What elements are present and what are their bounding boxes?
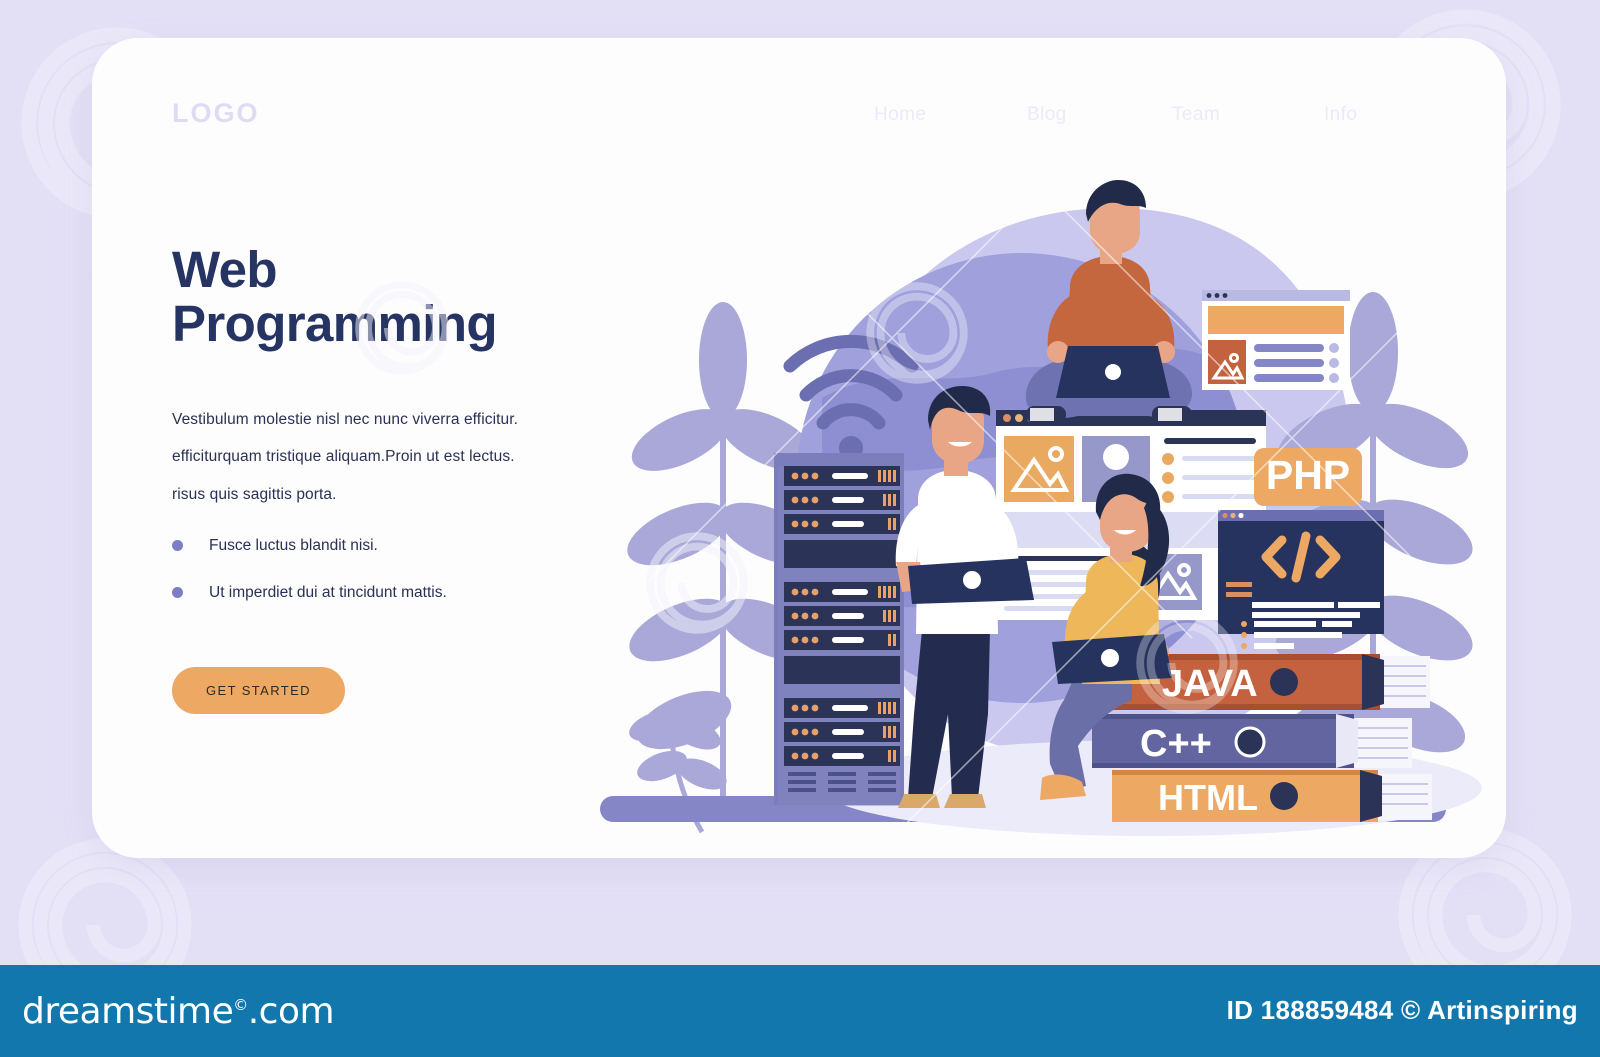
svg-text:PHP: PHP xyxy=(1266,452,1350,498)
card-banner xyxy=(1208,306,1344,334)
sneaker-right xyxy=(1152,406,1192,423)
nav-item-team[interactable]: Team xyxy=(1172,104,1220,126)
php-badge: PHP xyxy=(1254,448,1362,506)
server-vents xyxy=(788,772,896,792)
nav-item-info[interactable]: Info xyxy=(1324,104,1357,126)
image-credit: ID 188859484 © Artinspiring xyxy=(1227,995,1578,1026)
sneaker-left xyxy=(1026,406,1066,423)
dreamstime-logo: dreamstime©.com xyxy=(22,991,334,1032)
site-logo[interactable]: LOGO xyxy=(172,98,260,129)
book-cplusplus: C++ xyxy=(1092,714,1412,768)
hero-bullet-list: Fusce luctus blandit nisi. Ut imperdiet … xyxy=(172,537,602,602)
svg-text:HTML: HTML xyxy=(1158,777,1258,818)
svg-text:C++: C++ xyxy=(1140,723,1212,765)
server-group-3 xyxy=(784,698,900,766)
bullet-label: Fusce luctus blandit nisi. xyxy=(209,537,378,555)
shoe-right xyxy=(944,794,986,808)
book-html: HTML xyxy=(1112,770,1432,822)
hero-illustration: PHP xyxy=(592,148,1492,838)
svg-text:JAVA: JAVA xyxy=(1162,663,1258,705)
page-title: Web Programming xyxy=(172,243,602,350)
server-rack xyxy=(774,453,904,806)
bullet-label: Ut imperdiet dui at tincidunt mattis. xyxy=(209,584,447,602)
server-group-2 xyxy=(784,582,900,684)
server-group-1 xyxy=(784,466,900,568)
hero-paragraph-3: risus quis sagittis porta. xyxy=(172,487,602,503)
get-started-button[interactable]: GET STARTED xyxy=(172,667,345,714)
list-item: Ut imperdiet dui at tincidunt mattis. xyxy=(172,584,602,602)
list-item: Fusce luctus blandit nisi. xyxy=(172,537,602,555)
dreamstime-watermark-bar: dreamstime©.com ID 188859484 © Artinspir… xyxy=(0,965,1600,1057)
hero-paragraph-1: Vestibulum molestie nisl nec nunc viverr… xyxy=(172,412,602,428)
shoe-left xyxy=(898,794,940,808)
hero-paragraphs: Vestibulum molestie nisl nec nunc viverr… xyxy=(172,412,602,503)
hero-copy: Web Programming Vestibulum molestie nisl… xyxy=(172,243,602,714)
browser-card-small xyxy=(1202,290,1350,390)
bullet-dot-icon xyxy=(172,587,183,598)
nav-item-blog[interactable]: Blog xyxy=(1027,104,1067,126)
hero-paragraph-2: efficiturquam tristique aliquam.Proin ut… xyxy=(172,449,602,465)
bullet-dot-icon xyxy=(172,540,183,551)
nav-item-home[interactable]: Home xyxy=(874,104,926,126)
landing-page-card: LOGO Home Blog Team Info Web Programming… xyxy=(92,38,1506,858)
code-editor-window xyxy=(1218,510,1384,649)
